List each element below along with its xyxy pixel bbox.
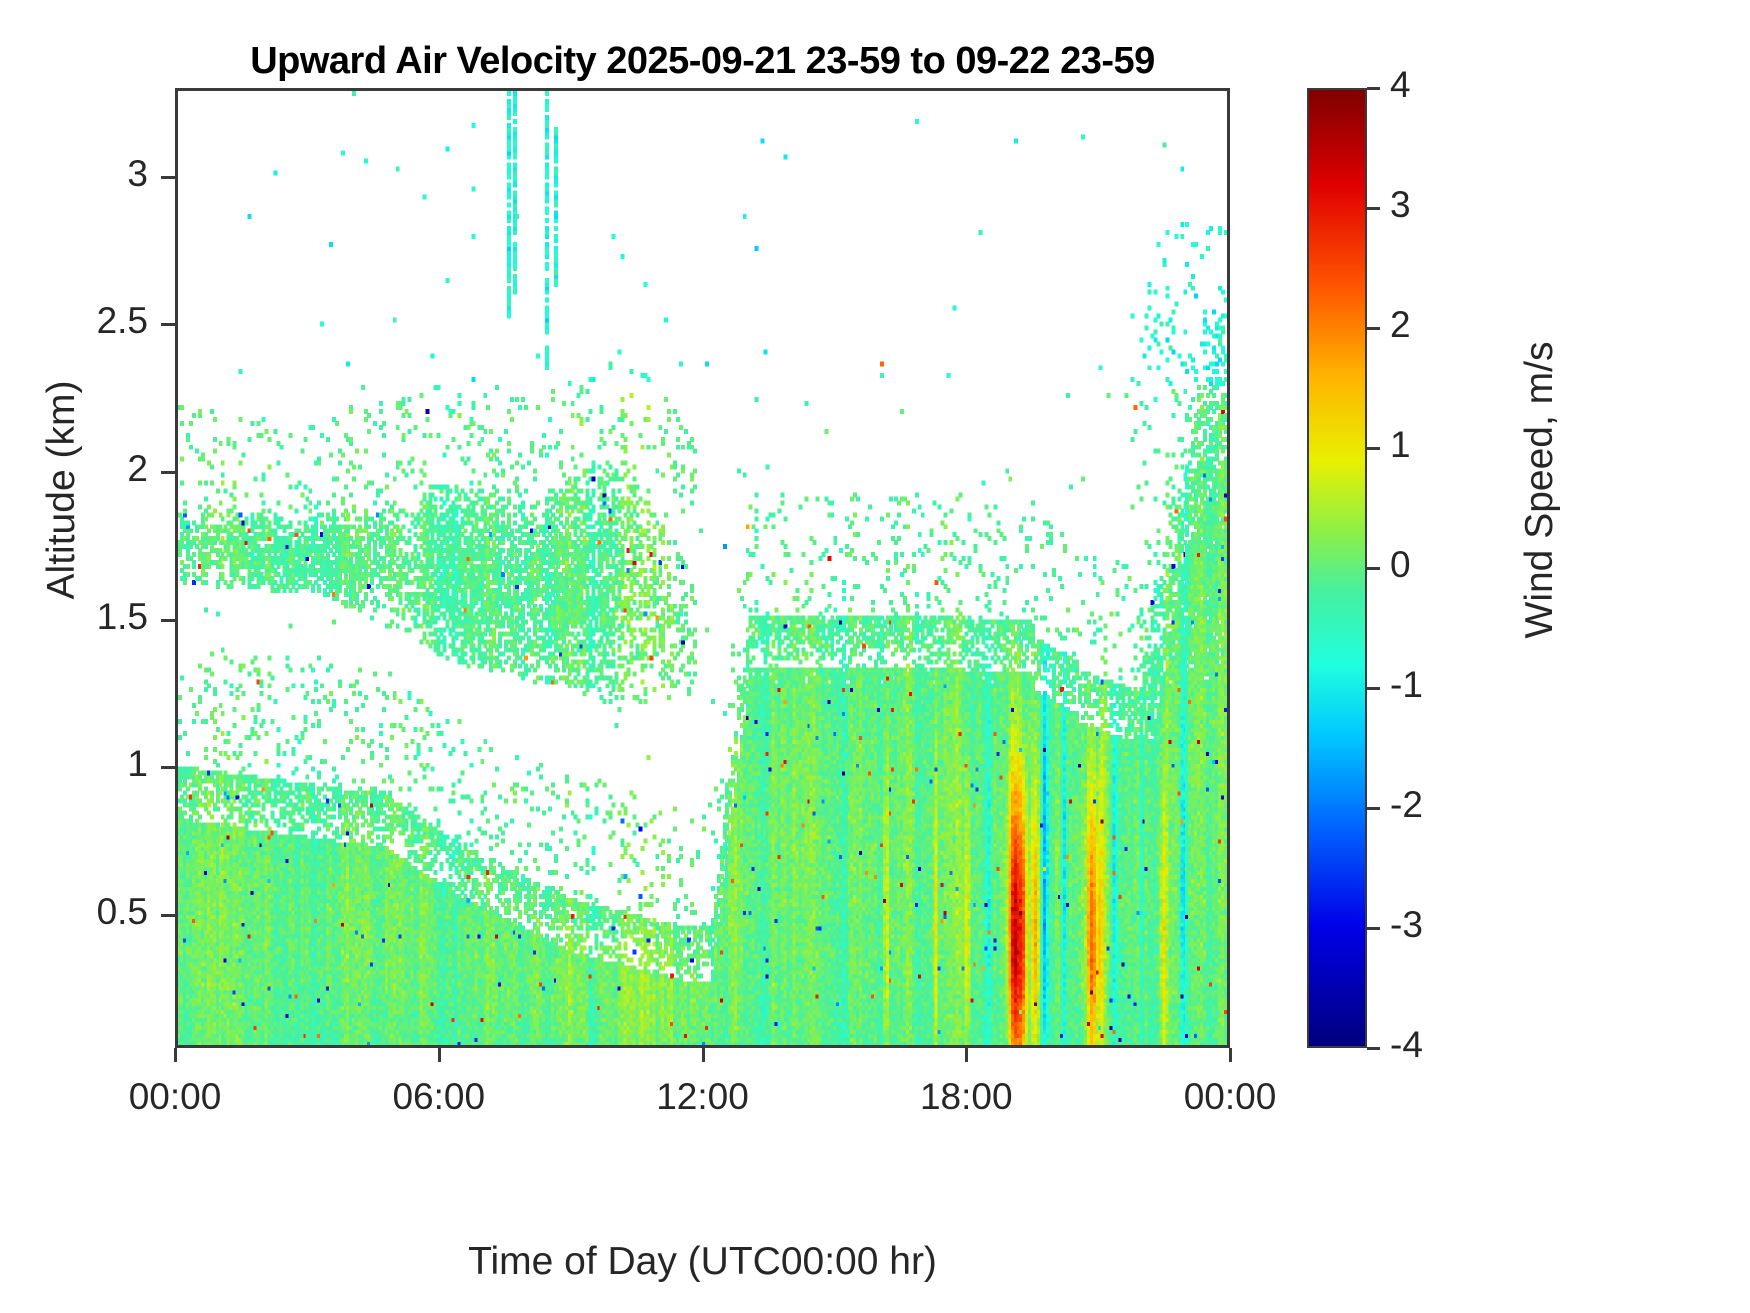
colorbar: [1307, 88, 1367, 1048]
heatmap-canvas: [178, 91, 1227, 1045]
colorbar-tick-label--1: -1: [1390, 664, 1423, 706]
chart-title: Upward Air Velocity 2025-09-21 23-59 to …: [175, 40, 1230, 83]
colorbar-tick-label-2: 2: [1390, 304, 1411, 346]
y-tick-label-1: 1: [0, 743, 148, 785]
colorbar-tick-label-3: 3: [1390, 184, 1411, 226]
colorbar-tick-label--2: -2: [1390, 784, 1423, 826]
x-tick-0: [174, 1048, 177, 1062]
colorbar-tick-1: [1367, 447, 1380, 450]
colorbar-label: Wind Speed, m/s: [1518, 280, 1562, 700]
x-tick-label-0: 00:00: [75, 1076, 275, 1118]
y-tick-2.5: [161, 323, 175, 326]
colorbar-tick--3: [1367, 927, 1380, 930]
y-tick-2: [161, 471, 175, 474]
x-tick-label-2: 12:00: [603, 1076, 803, 1118]
y-tick-3: [161, 176, 175, 179]
y-tick-label-2.5: 2.5: [0, 300, 148, 342]
y-tick-label-2: 2: [0, 448, 148, 490]
x-tick-4: [1229, 1048, 1232, 1062]
colorbar-tick-label-4: 4: [1390, 64, 1411, 106]
colorbar-tick-label-0: 0: [1390, 544, 1411, 586]
y-tick-label-1.5: 1.5: [0, 596, 148, 638]
x-tick-3: [965, 1048, 968, 1062]
colorbar-tick--1: [1367, 687, 1380, 690]
colorbar-tick-label-1: 1: [1390, 424, 1411, 466]
x-tick-label-1: 06:00: [339, 1076, 539, 1118]
y-tick-1.5: [161, 619, 175, 622]
heatmap-plot-area: [175, 88, 1230, 1048]
colorbar-tick--4: [1367, 1047, 1380, 1050]
y-tick-1: [161, 766, 175, 769]
colorbar-gradient: [1309, 90, 1365, 1046]
y-tick-0.5: [161, 914, 175, 917]
colorbar-tick-3: [1367, 207, 1380, 210]
x-tick-1: [438, 1048, 441, 1062]
x-tick-label-4: 00:00: [1130, 1076, 1330, 1118]
x-tick-label-3: 18:00: [866, 1076, 1066, 1118]
x-tick-2: [702, 1048, 705, 1062]
colorbar-tick-0: [1367, 567, 1380, 570]
colorbar-tick--2: [1367, 807, 1380, 810]
x-axis-label: Time of Day (UTC00:00 hr): [175, 1240, 1230, 1284]
colorbar-tick-2: [1367, 327, 1380, 330]
chart-figure: Upward Air Velocity 2025-09-21 23-59 to …: [0, 0, 1750, 1313]
colorbar-tick-label--4: -4: [1390, 1024, 1423, 1066]
y-tick-label-0.5: 0.5: [0, 891, 148, 933]
colorbar-tick-4: [1367, 87, 1380, 90]
colorbar-tick-label--3: -3: [1390, 904, 1423, 946]
y-tick-label-3: 3: [0, 153, 148, 195]
